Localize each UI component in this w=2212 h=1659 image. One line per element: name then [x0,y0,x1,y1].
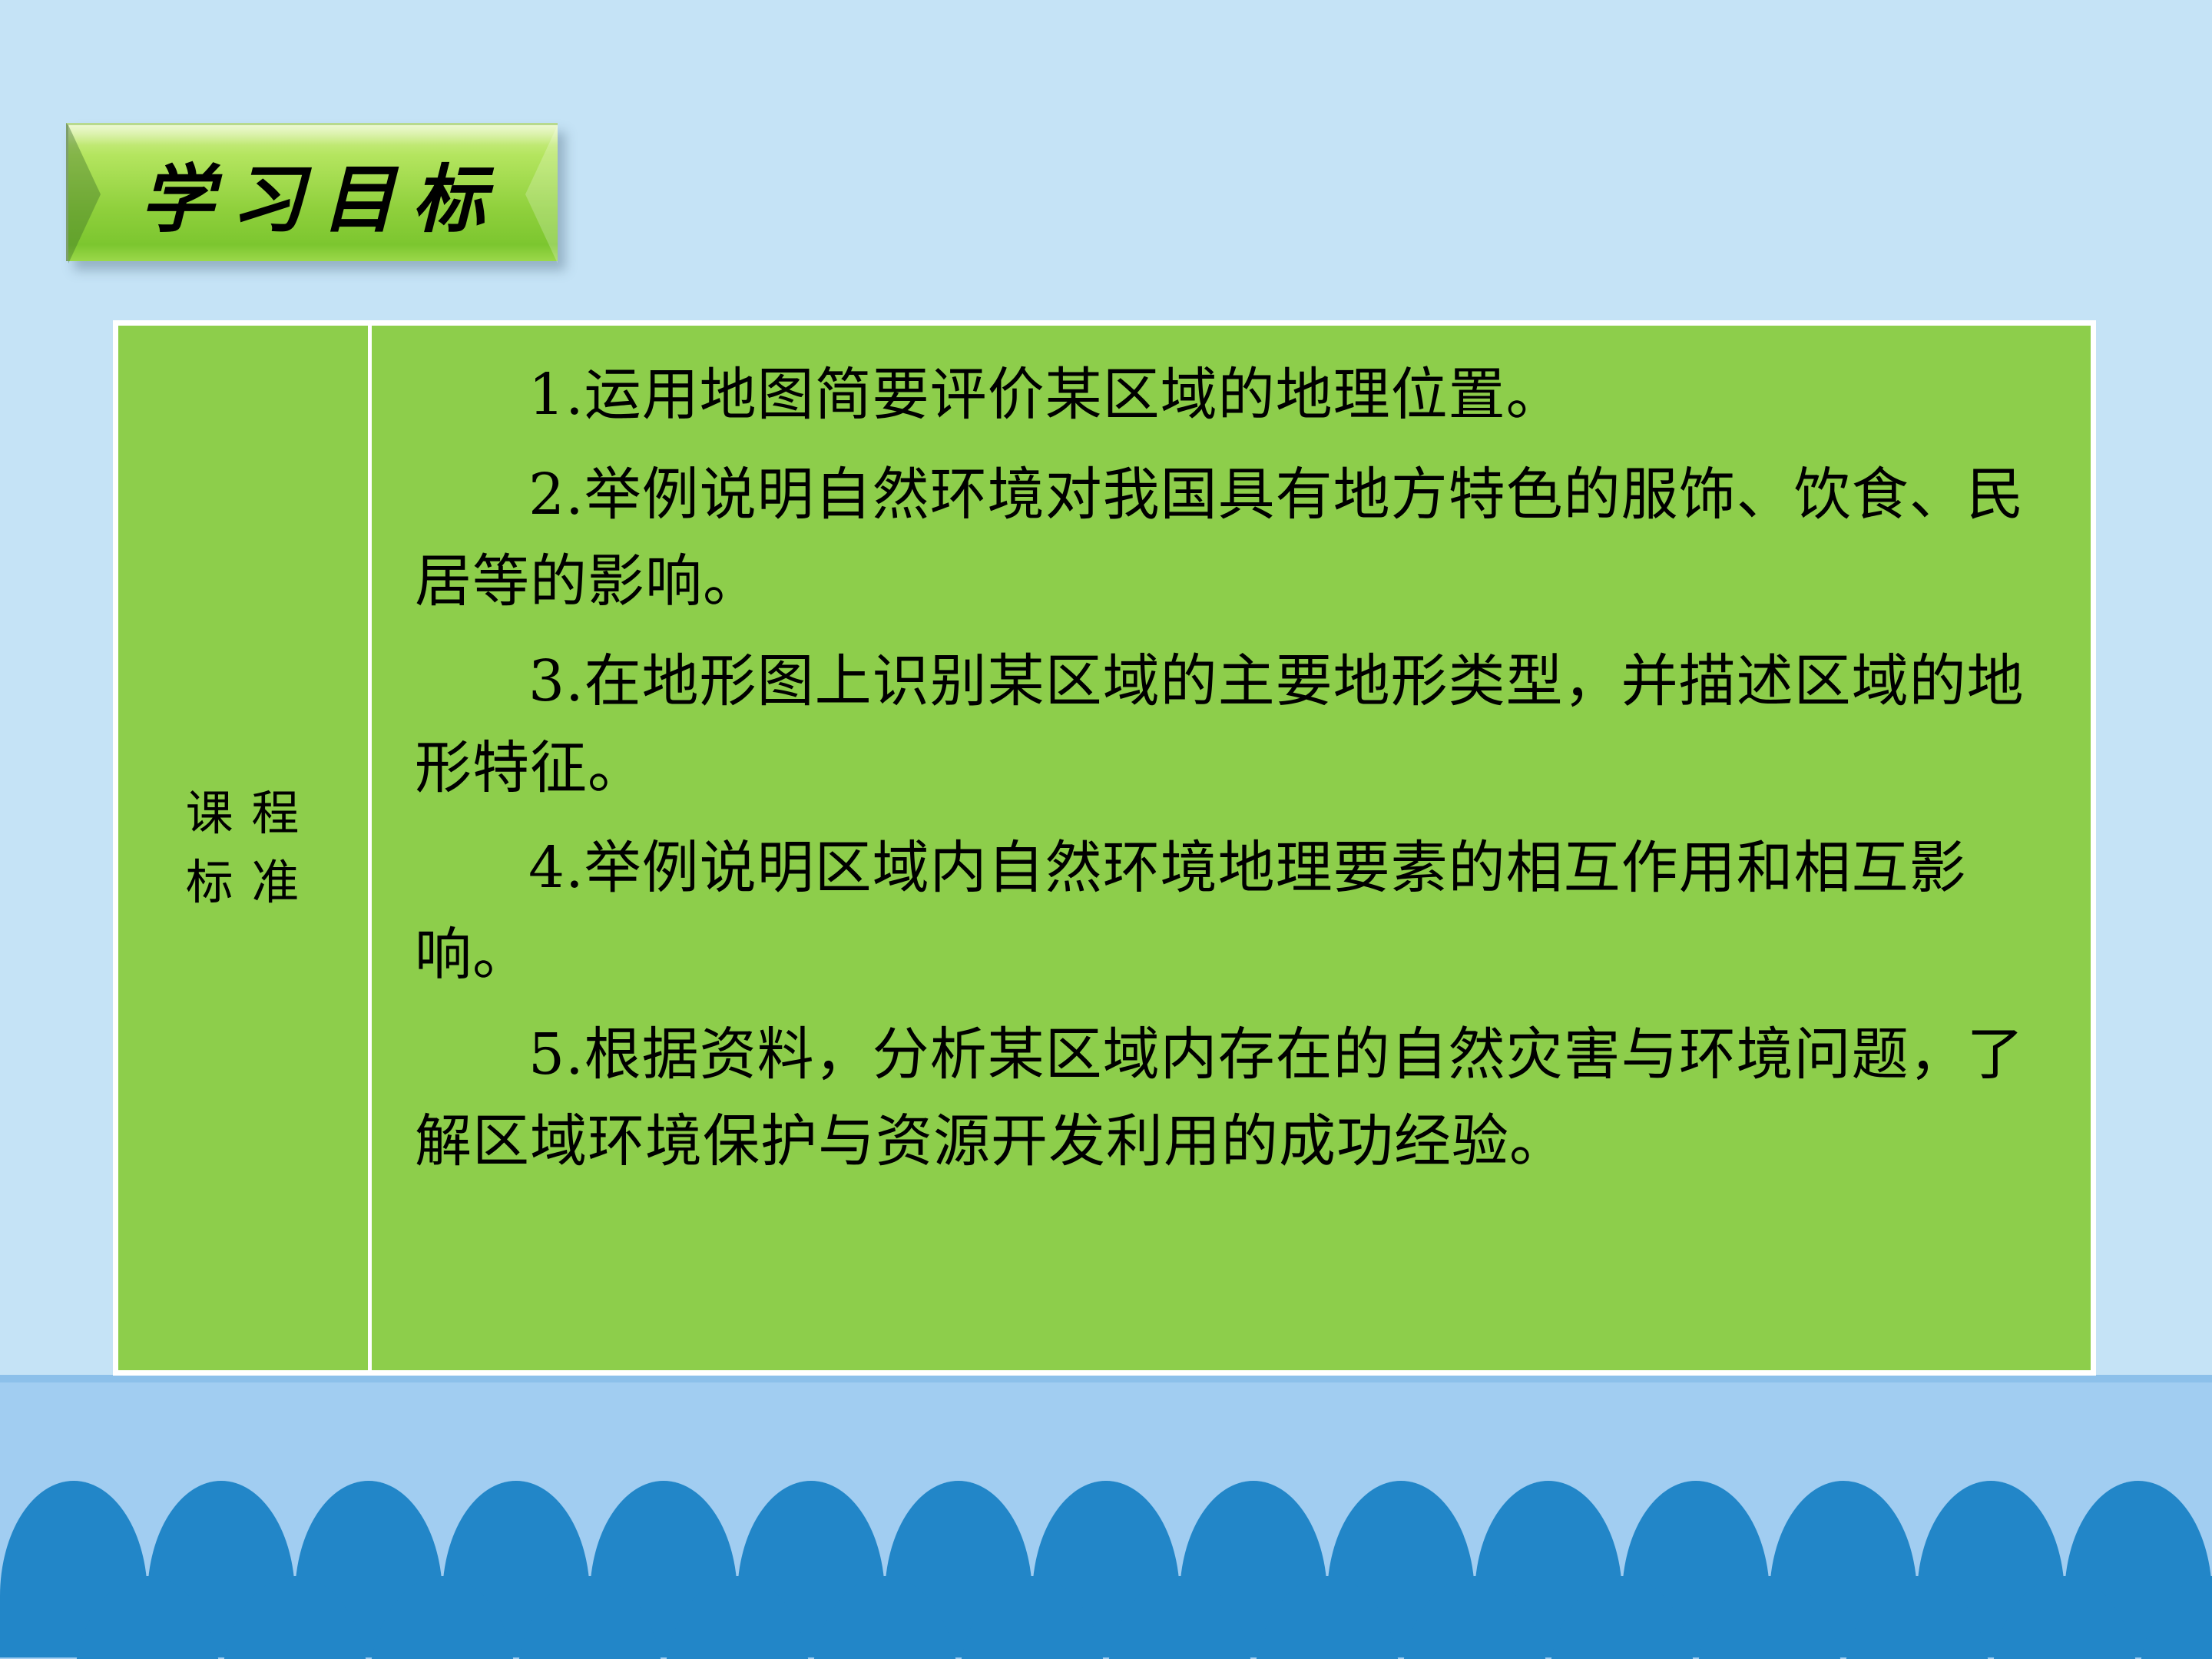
list-item: 2.举例说明自然环境对我国具有地方特色的服饰、饮食、民居等的影响。 [415,452,2037,624]
arch-shape [1253,1576,1401,1659]
list-item: 5.根据资料，分析某区域内存在的自然灾害与环境问题，了解区域环境保护与资源开发利… [415,1012,2037,1184]
list-item: 1.运用地图简要评价某区域的地理位置。 [415,352,2037,438]
arch-shape [369,1576,516,1659]
water-band-edge [0,1375,2212,1382]
arch-shape [959,1576,1106,1659]
curriculum-standard-label: 课 程 标 准 [186,779,301,917]
arch-shape [1106,1576,1253,1659]
arch-shape [1548,1576,1696,1659]
list-item: 3.在地形图上识别某区域的主要地形类型，并描述区域的地形特征。 [415,638,2037,811]
arch-shape [811,1576,959,1659]
arch-shape [1401,1576,1548,1659]
arch-shape [664,1576,811,1659]
page-title: 学习目标 [68,125,558,261]
table-content-cell: 1.运用地图简要评价某区域的地理位置。 2.举例说明自然环境对我国具有地方特色的… [372,326,2091,1370]
arch-shape [1991,1576,2138,1659]
scallop-row-lower [0,1576,2212,1659]
list-item: 4.举例说明区域内自然环境地理要素的相互作用和相互影响。 [415,825,2037,998]
arch-shape [2138,1576,2212,1659]
arch-shape [1696,1576,1843,1659]
arch-offset-spacer [0,1576,74,1659]
slide-canvas: 学习目标 课 程 标 准 1.运用地图简要评价某区域的地理位置。 2.举例说明自… [0,0,2212,1659]
arch-shape [74,1576,221,1659]
table-label-cell: 课 程 标 准 [118,326,368,1370]
learning-objectives-table: 课 程 标 准 1.运用地图简要评价某区域的地理位置。 2.举例说明自然环境对我… [114,321,2095,1375]
arch-shape [516,1576,664,1659]
arch-shape [221,1576,369,1659]
slide-title-plaque: 学习目标 [66,123,558,261]
arch-shape [1843,1576,1991,1659]
